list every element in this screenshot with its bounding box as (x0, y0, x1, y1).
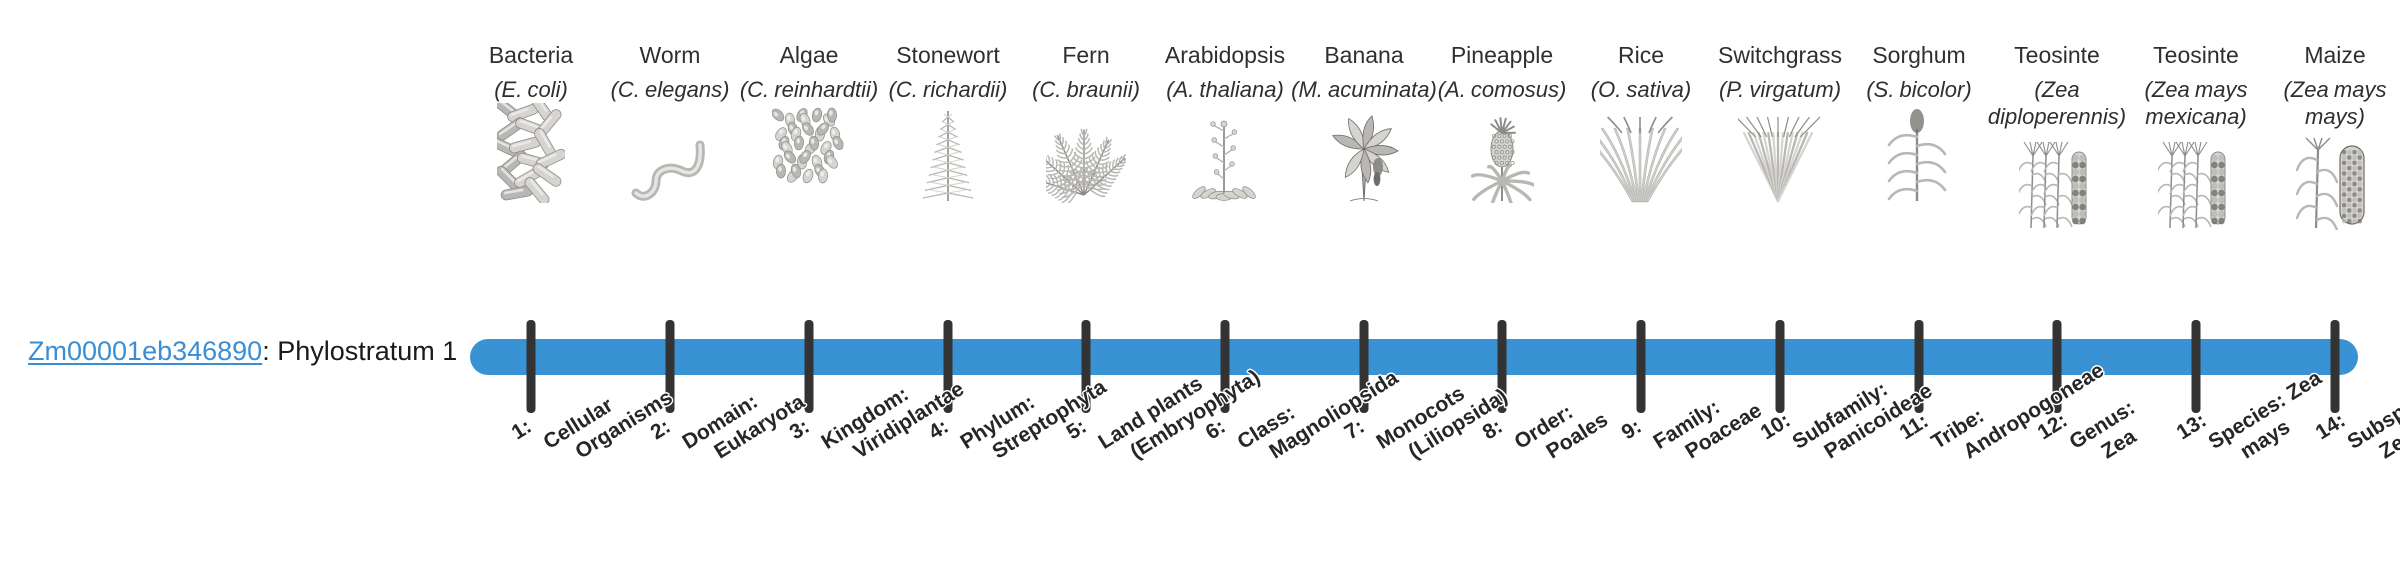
phylostratum-tick (805, 320, 814, 413)
gene-phylostratum-text: Phylostratum 1 (277, 336, 457, 366)
gene-accession-link[interactable]: Zm00001eb346890 (28, 336, 262, 366)
phylostratum-tick (527, 320, 536, 413)
phylostratum-tick (2192, 320, 2201, 413)
phylostratum-tick (1637, 320, 1646, 413)
gene-label-separator: : (262, 336, 277, 366)
phylostratum-track (0, 0, 2400, 580)
phylostratum-tick (1776, 320, 1785, 413)
gene-row-label: Zm00001eb346890: Phylostratum 1 (28, 338, 457, 365)
